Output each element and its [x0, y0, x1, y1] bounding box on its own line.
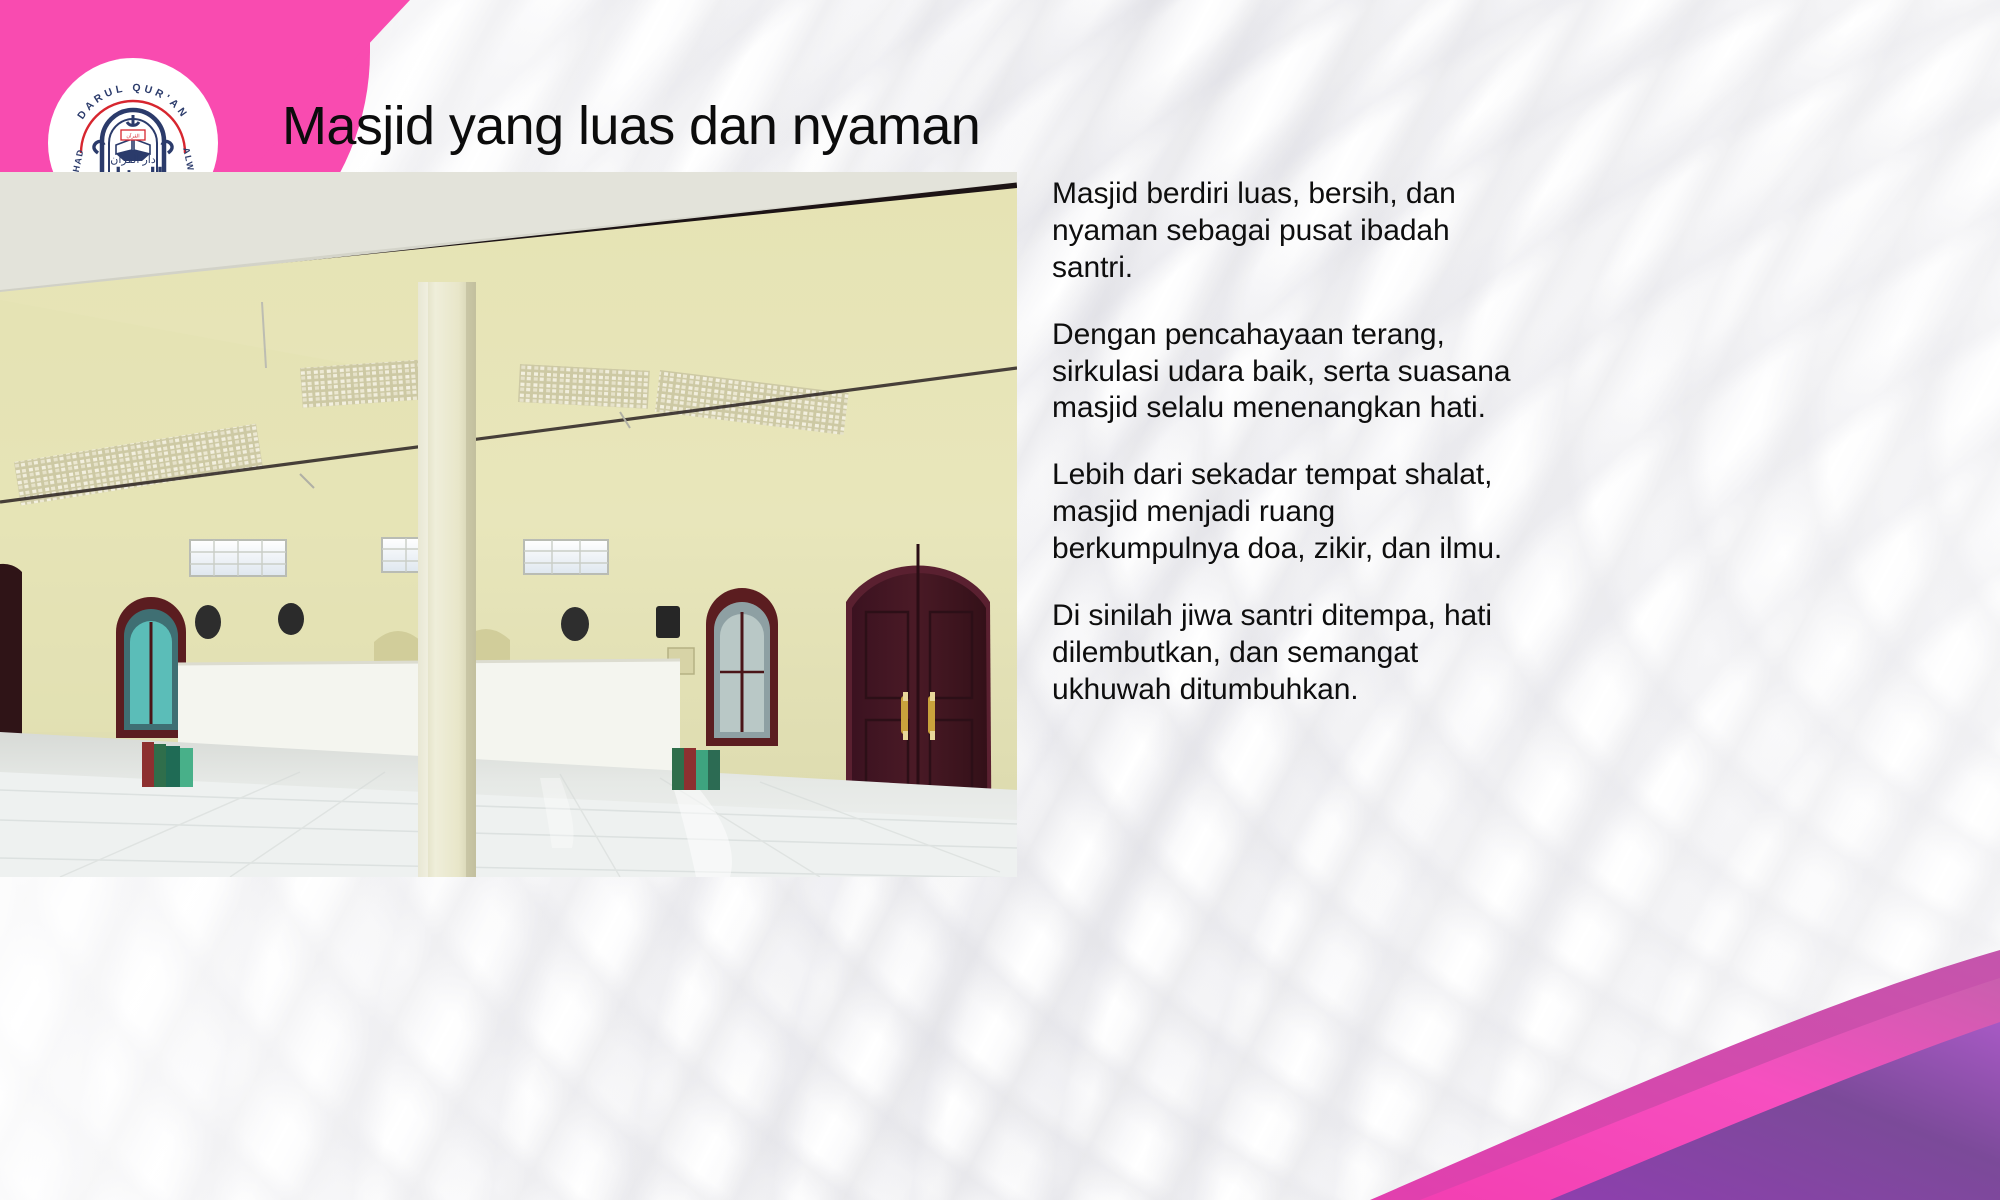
- svg-text:القرآن: القرآن: [126, 133, 139, 140]
- page-title: Masjid yang luas dan nyaman: [282, 96, 1382, 156]
- corner-decoration: [1220, 770, 2000, 1200]
- mosque-interior-illustration: [0, 172, 1017, 877]
- body-paragraph: Masjid berdiri luas, bersih, dan nyaman …: [1052, 176, 1582, 287]
- body-paragraph: Lebih dari sekadar tempat shalat, masjid…: [1052, 457, 1582, 568]
- body-paragraph: Di sinilah jiwa santri ditempa, hati dil…: [1052, 598, 1582, 709]
- presentation-slide: القرآن دار القرآن الوفاء المتوسطة - الثا…: [0, 0, 2000, 1200]
- body-paragraph: Dengan pencahayaan terang, sirkulasi uda…: [1052, 317, 1582, 428]
- mosque-interior-photo: [0, 172, 1017, 877]
- body-text-column: Masjid berdiri luas, bersih, dan nyaman …: [1052, 176, 1582, 709]
